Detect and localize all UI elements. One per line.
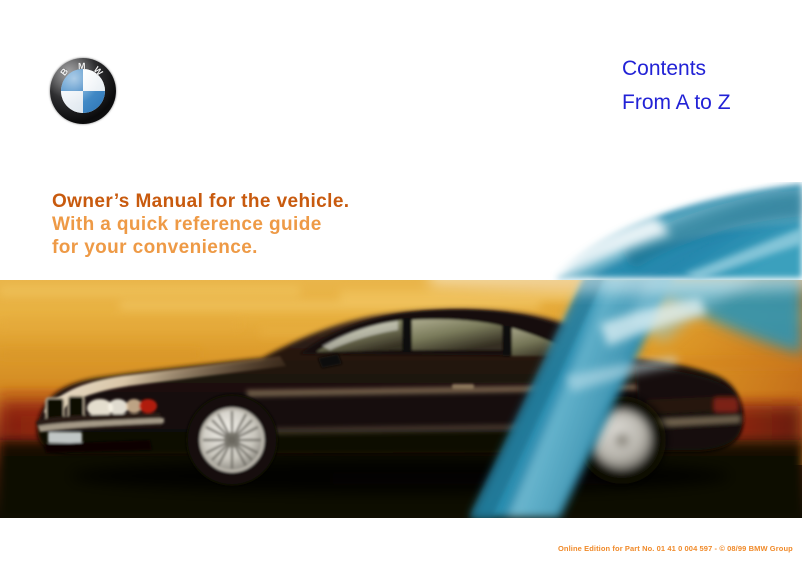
headline-line-2: With a quick reference guide bbox=[52, 213, 349, 236]
manual-cover-page: B M W Contents From A to Z Owner’s Manua… bbox=[0, 0, 802, 567]
bmw-roundel-logo: B M W bbox=[50, 58, 116, 124]
footer-online-edition-notice: Online Edition for Part No. 01 41 0 004 … bbox=[558, 544, 793, 553]
headline-line-1: Owner’s Manual for the vehicle. bbox=[52, 190, 349, 213]
cover-photo-bmw-7-series bbox=[0, 280, 802, 518]
headline-line-3: for your convenience. bbox=[52, 236, 349, 259]
logo-quadrants bbox=[61, 69, 105, 113]
contents-line-1: Contents bbox=[622, 52, 731, 86]
contents-line-2: From A to Z bbox=[622, 86, 731, 120]
logo-gloss bbox=[61, 69, 105, 113]
contents-heading: Contents From A to Z bbox=[622, 52, 731, 120]
cover-headline: Owner’s Manual for the vehicle. With a q… bbox=[52, 190, 349, 259]
teal-ribbon-swoosh-upper bbox=[470, 182, 802, 280]
